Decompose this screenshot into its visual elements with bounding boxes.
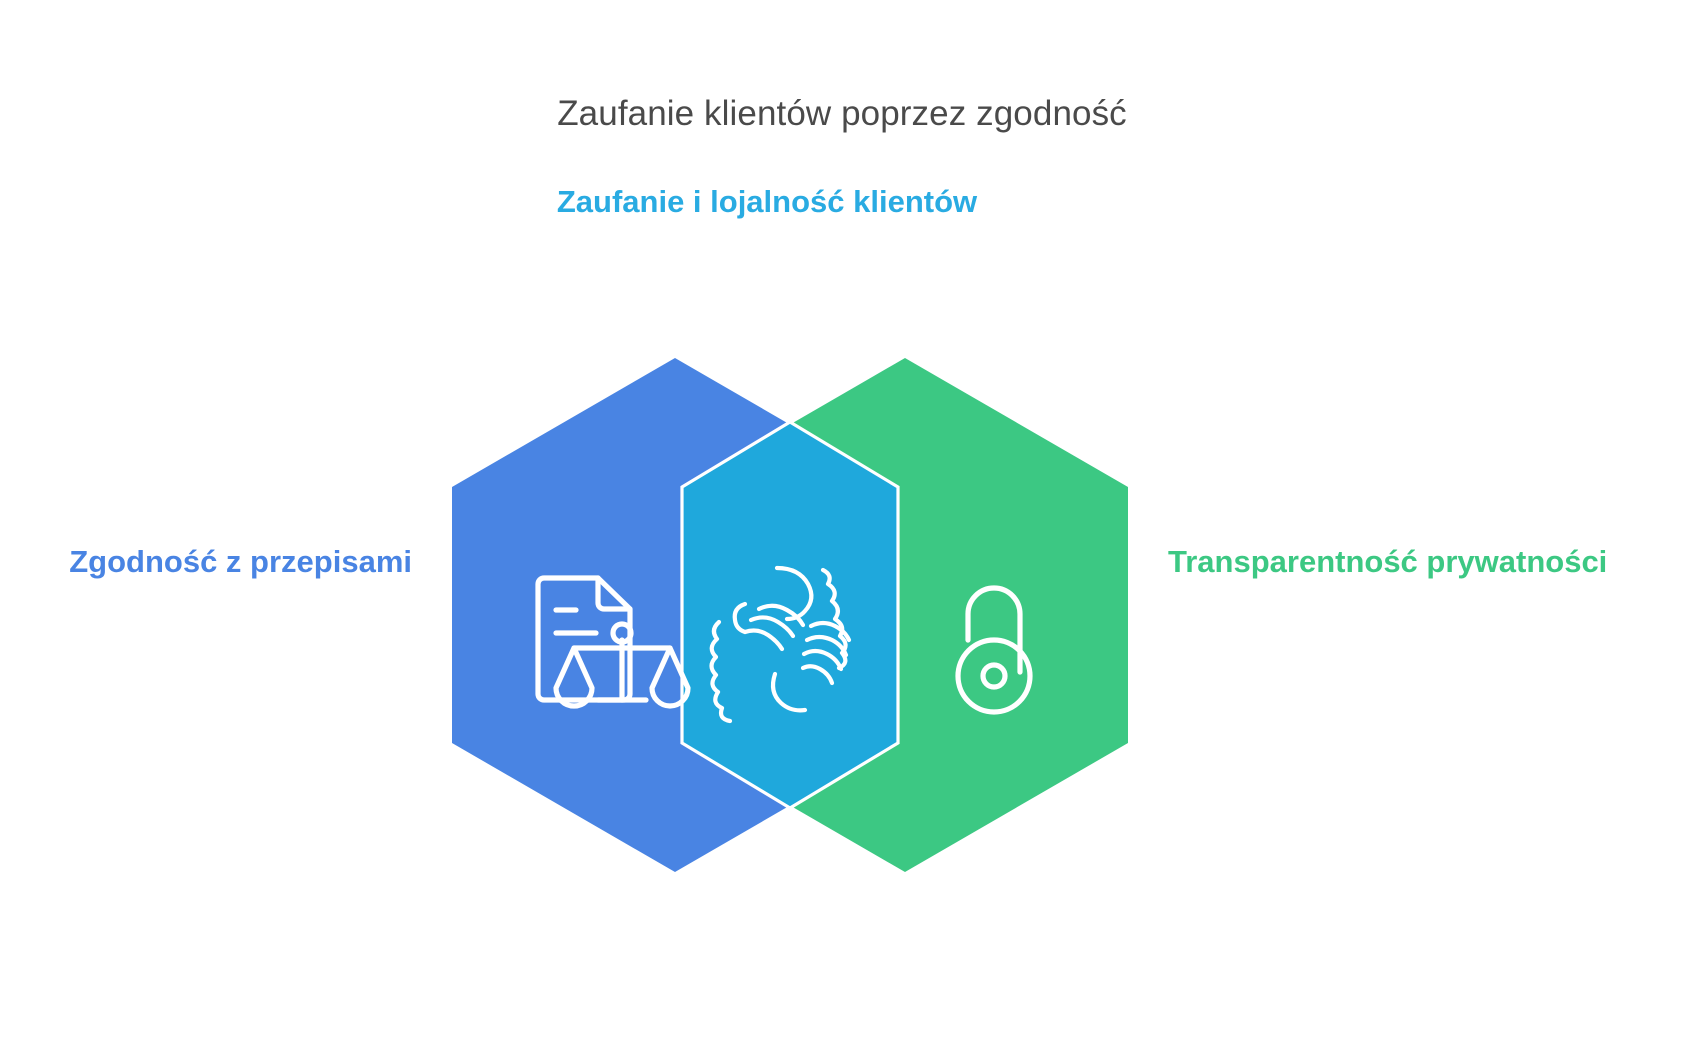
- page-title: Zaufanie klientów poprzez zgodność: [0, 92, 1684, 136]
- hexagon-center-trust[interactable]: [682, 422, 898, 808]
- center-segment-label: Zaufanie i lojalność klientów: [542, 180, 992, 225]
- right-segment-label: Transparentność prywatności: [1168, 540, 1668, 585]
- diagram-canvas: Zaufanie klientów poprzez zgodność Zaufa…: [0, 0, 1684, 1060]
- left-segment-label: Zgodność z przepisami: [20, 540, 412, 585]
- venn-diagram: [430, 340, 1150, 900]
